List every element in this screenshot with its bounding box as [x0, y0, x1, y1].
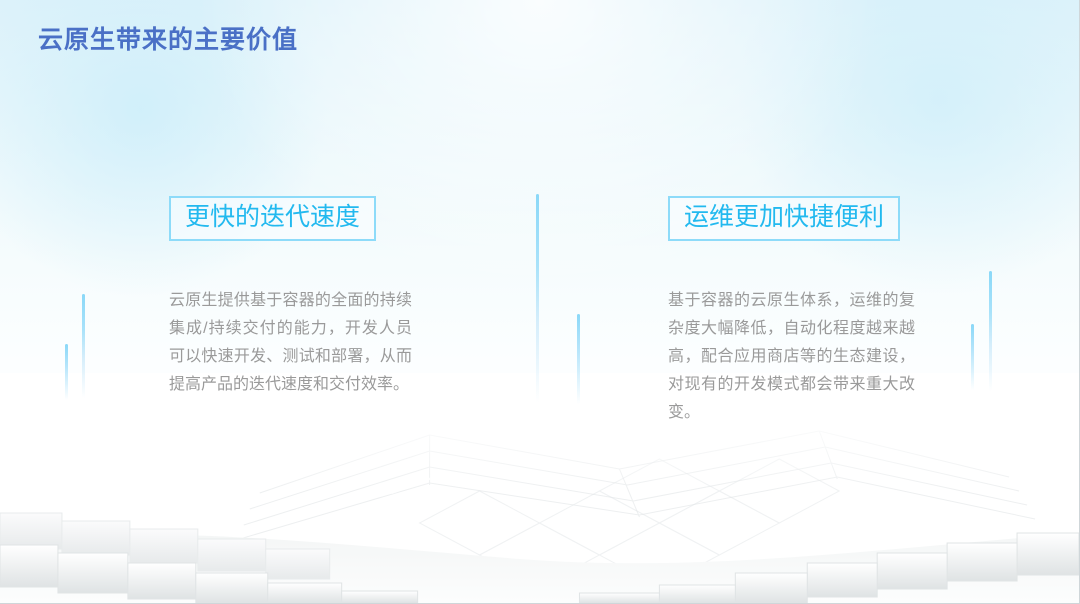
value-column-right: 运维更加快捷便利 基于容器的云原生体系，运维的复杂度大幅降低，自动化程度越来越高… [668, 196, 918, 427]
accent-line-middle-tall [536, 194, 539, 402]
accent-line-middle-short [577, 314, 580, 404]
column-heading-left: 更快的迭代速度 [169, 196, 376, 241]
slide-canvas: 云原生带来的主要价值 更快的迭代速度 云原生提供基于容器的全面的持续集成/持续交… [0, 0, 1080, 604]
accent-line-left-short [65, 344, 68, 400]
accent-line-left-tall [82, 294, 85, 398]
column-body-right: 基于容器的云原生体系，运维的复杂度大幅降低，自动化程度越来越高，配合应用商店等的… [668, 287, 915, 427]
column-heading-right: 运维更加快捷便利 [668, 196, 900, 241]
column-body-left: 云原生提供基于容器的全面的持续集成/持续交付的能力，开发人员可以快速开发、测试和… [169, 287, 412, 399]
accent-line-right-tall [989, 271, 992, 391]
page-title: 云原生带来的主要价值 [38, 20, 298, 56]
value-column-left: 更快的迭代速度 云原生提供基于容器的全面的持续集成/持续交付的能力，开发人员可以… [169, 196, 419, 399]
accent-line-right-short [971, 324, 974, 390]
